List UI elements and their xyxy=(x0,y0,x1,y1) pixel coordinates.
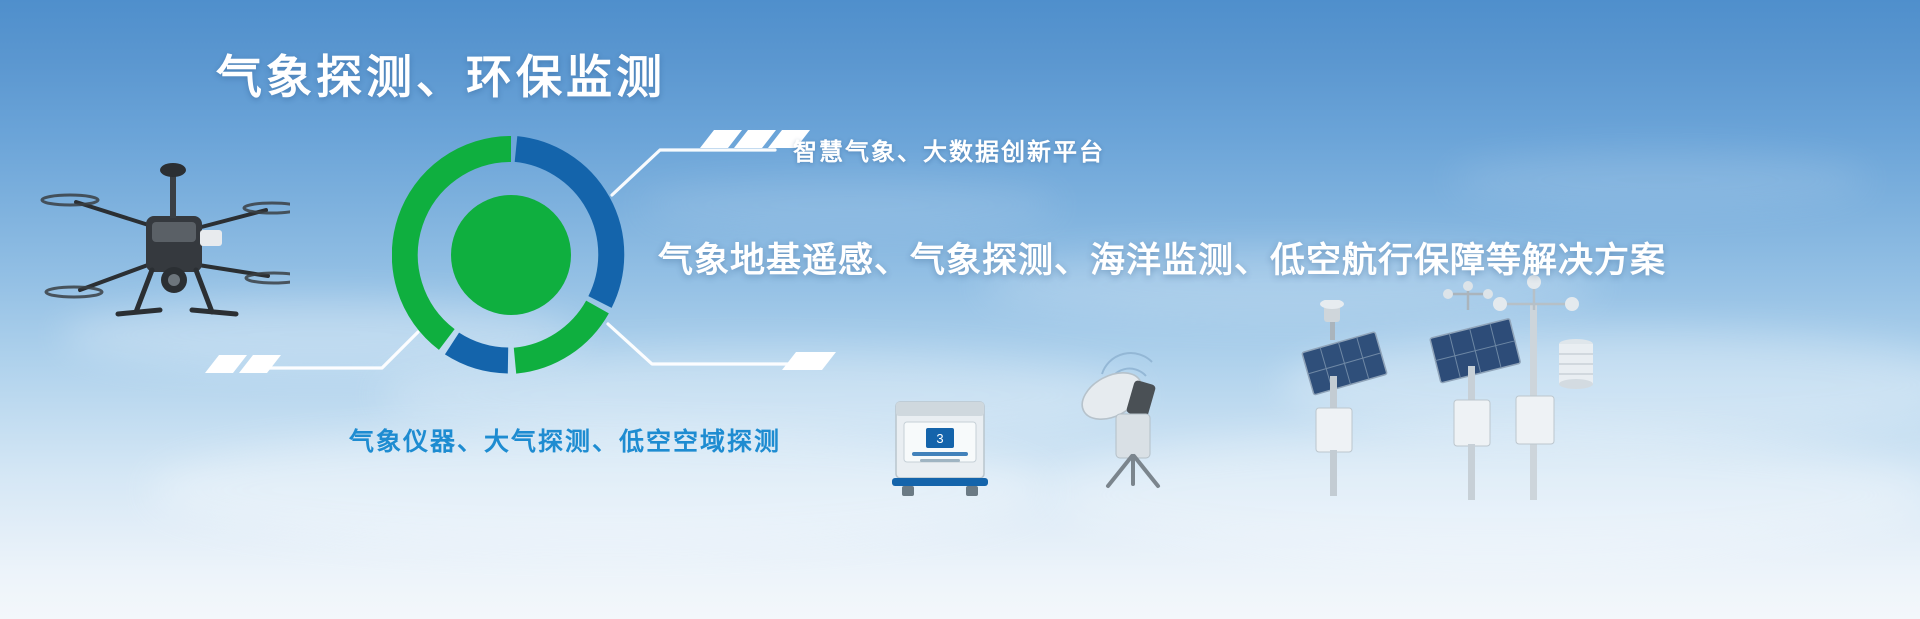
callout-bottom-label: 气象仪器、大气探测、低空空域探测 xyxy=(349,422,781,458)
radiation-shield-icon xyxy=(1559,339,1593,389)
svg-text:3: 3 xyxy=(936,431,943,446)
callout-top-label: 智慧气象、大数据创新平台 xyxy=(793,132,1105,167)
sensor-head-icon xyxy=(1320,300,1344,340)
weather-detection-banner: 3 xyxy=(0,0,1920,619)
solar-panel-sensor-pole xyxy=(1280,300,1400,500)
donut-ring-graphic xyxy=(392,136,630,374)
page-title: 气象探测、环保监测 xyxy=(216,50,666,105)
satellite-dish-tripod xyxy=(1068,352,1198,492)
portable-lidar-instrument-box: 3 xyxy=(886,388,994,498)
quadcopter-drone-graphic xyxy=(40,150,290,350)
dash-marks-bottom-right xyxy=(782,352,836,370)
anemometer-weather-mast xyxy=(1480,270,1600,505)
dash-marks-bottom-left xyxy=(205,355,281,373)
cloud-decoration xyxy=(1450,150,1870,210)
cloud-decoration xyxy=(640,180,1060,230)
main-solutions-label: 气象地基遥感、气象探测、海洋监测、低空航行保障等解决方案 xyxy=(658,232,1666,283)
